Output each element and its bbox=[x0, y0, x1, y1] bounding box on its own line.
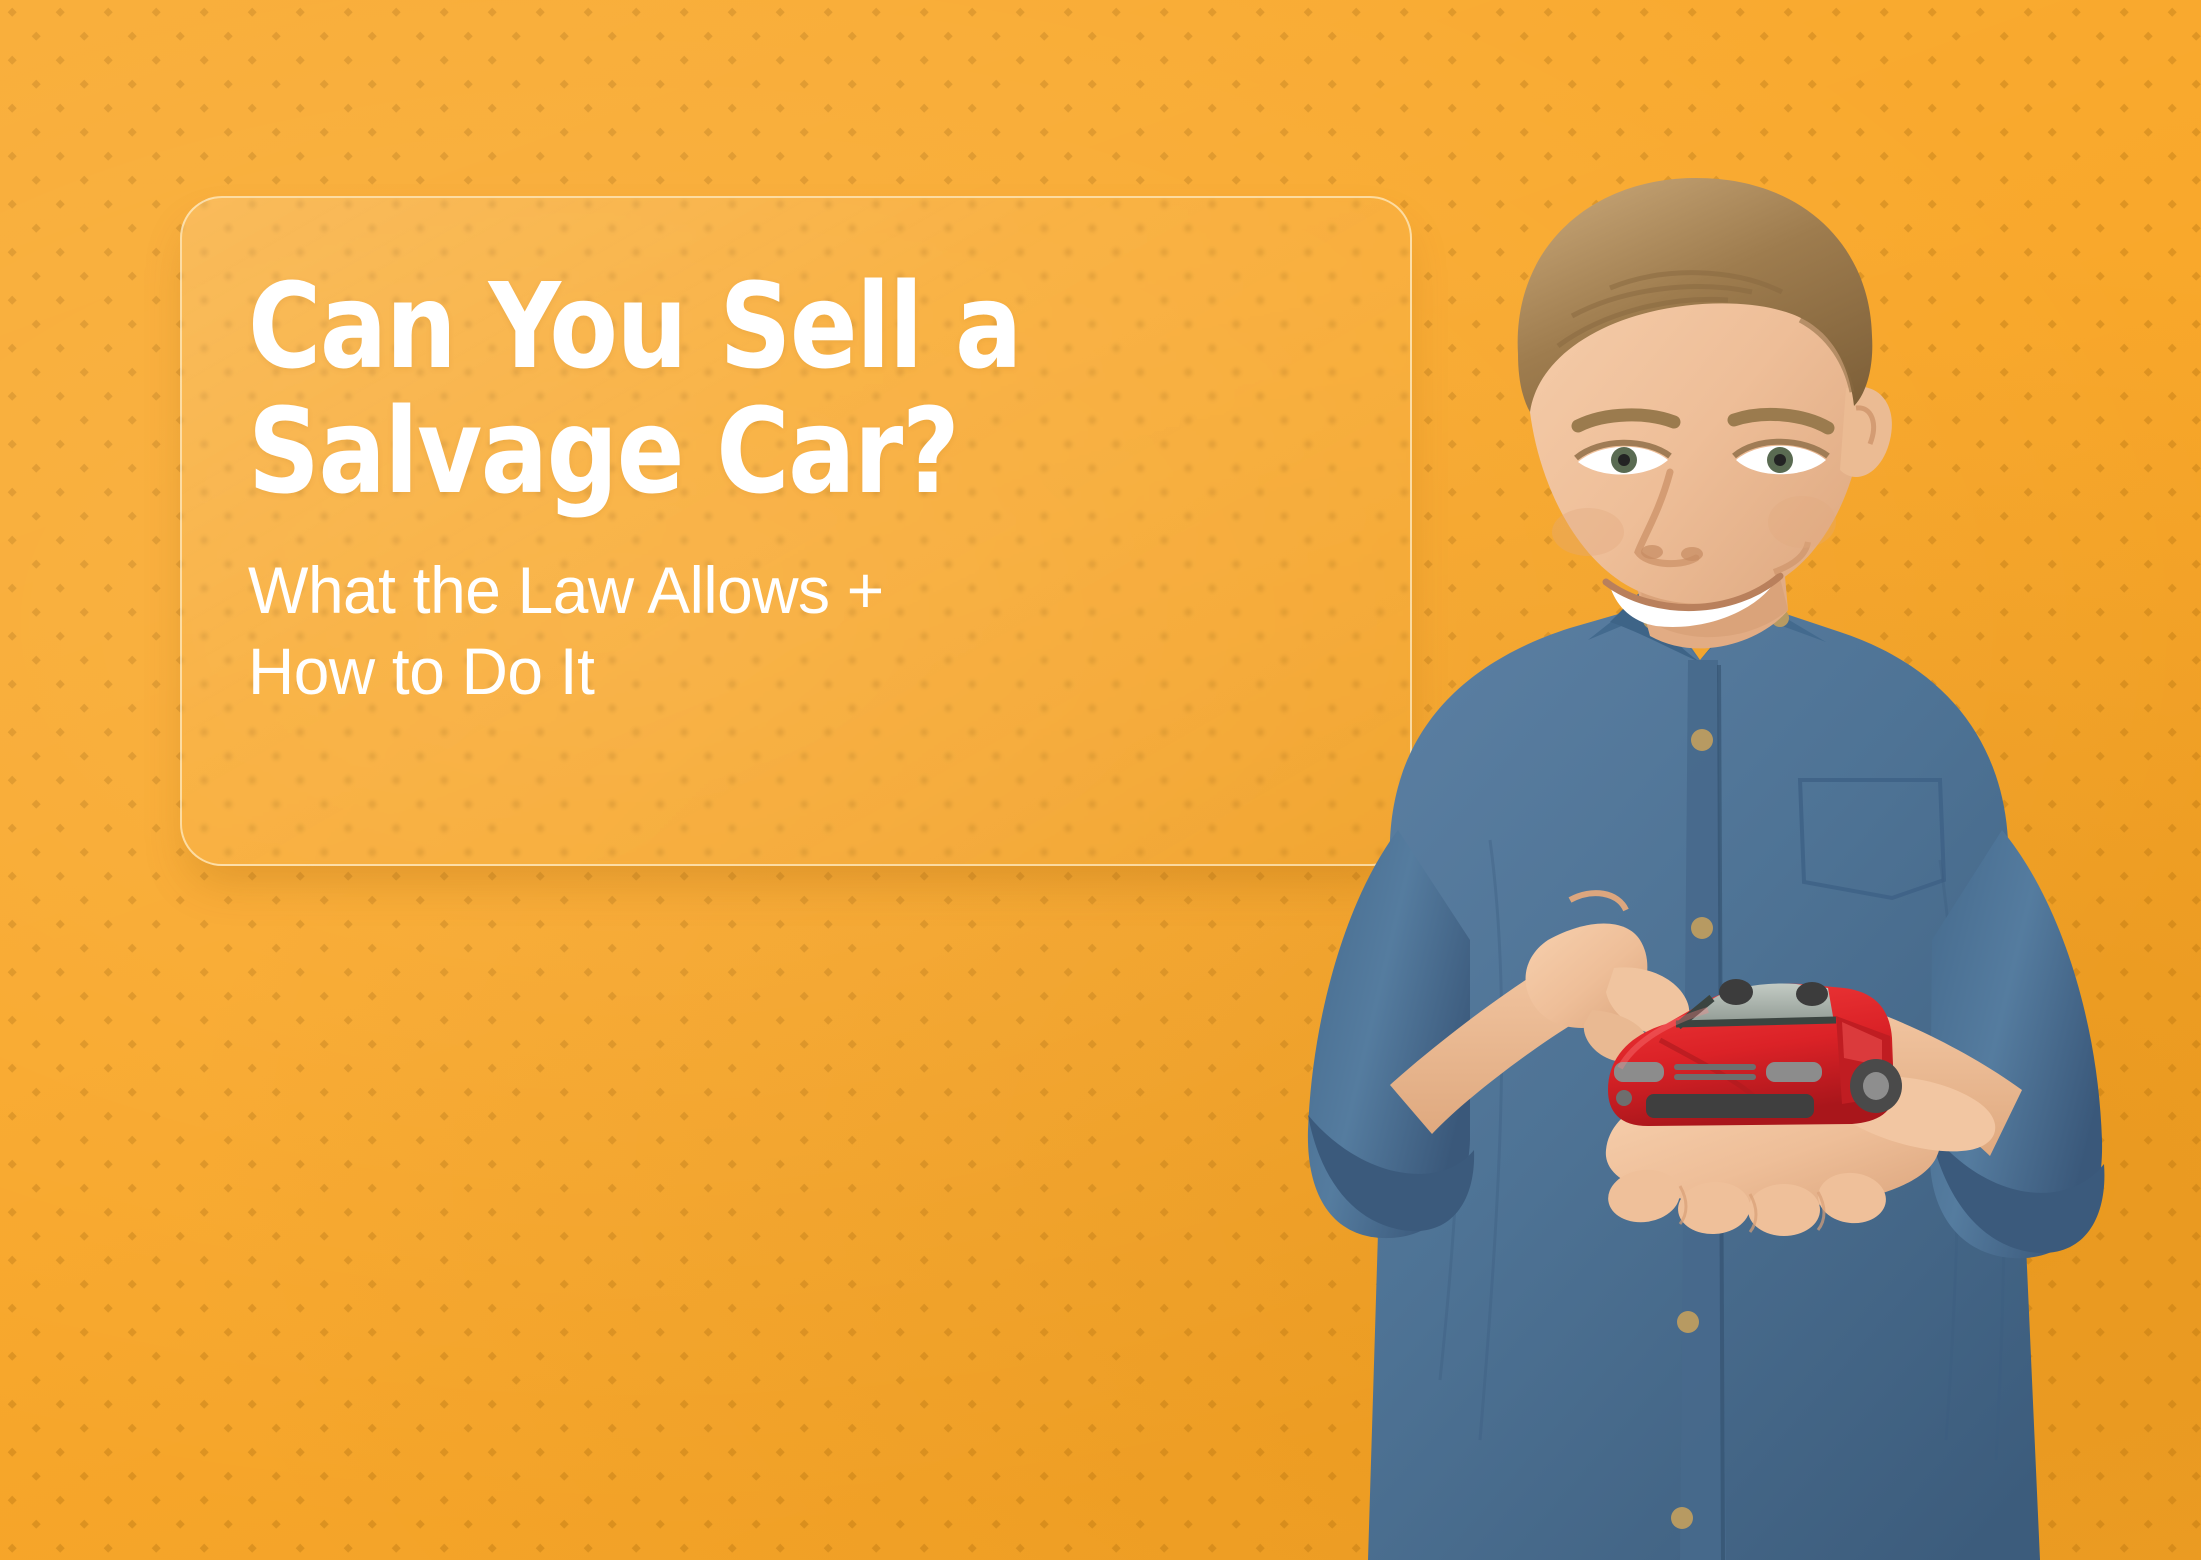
page-title-line-2: Salvage Car? bbox=[248, 389, 1276, 514]
face bbox=[1518, 178, 1892, 627]
open-palm bbox=[1605, 1076, 1996, 1236]
shirt bbox=[1368, 602, 2040, 1560]
page-subtitle-line-1: What the Law Allows + bbox=[248, 550, 1309, 631]
hair bbox=[1518, 178, 1873, 412]
eyes bbox=[1576, 442, 1828, 475]
neck bbox=[1632, 520, 1788, 648]
page-title-line-1: Can You Sell a bbox=[248, 257, 1021, 395]
title-text-block: Can You Sell a Salvage Car? What the Law… bbox=[180, 196, 1412, 866]
hero-banner: Can You Sell a Salvage Car? What the Law… bbox=[0, 0, 2201, 1560]
toy-car bbox=[1608, 979, 1902, 1126]
shirt-buttons bbox=[1643, 609, 1789, 1529]
pointing-hand bbox=[1526, 893, 1690, 1062]
page-subtitle: What the Law Allows + How to Do It bbox=[248, 550, 1309, 711]
page-subtitle-line-2: How to Do It bbox=[248, 631, 1309, 712]
right-sleeve bbox=[1930, 830, 2102, 1258]
left-sleeve bbox=[1308, 830, 1470, 1238]
page-title: Can You Sell a Salvage Car? bbox=[248, 264, 1276, 514]
